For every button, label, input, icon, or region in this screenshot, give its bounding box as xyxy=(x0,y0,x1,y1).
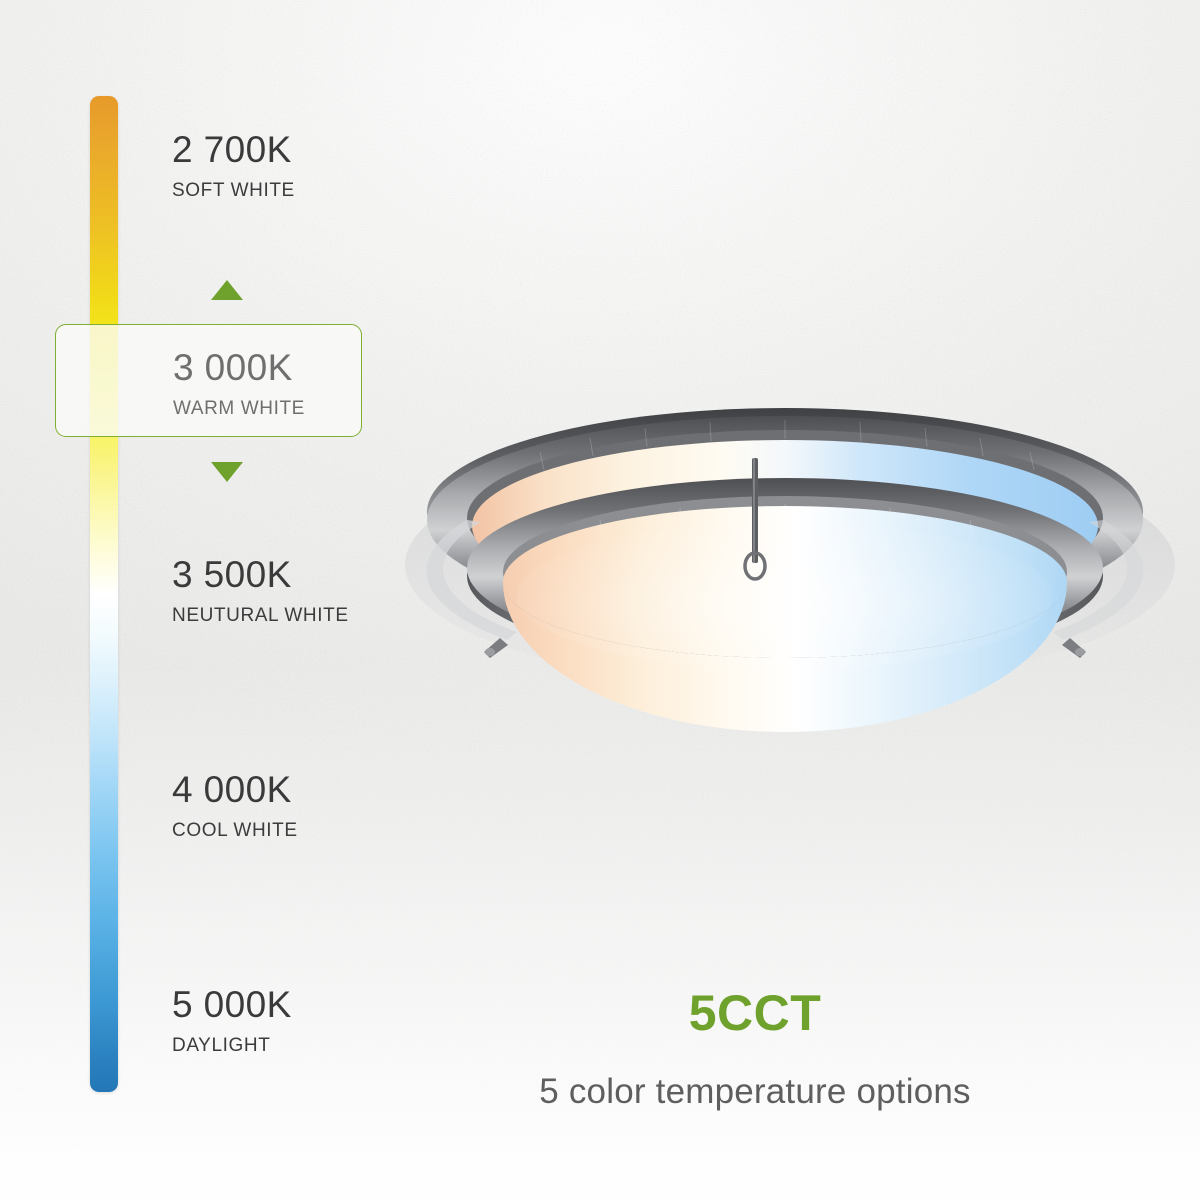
cct-temp-value: 4 000K xyxy=(172,771,298,808)
cct-step-2700k[interactable]: 2 700K SOFT WHITE xyxy=(172,131,295,200)
cct-step-3500k[interactable]: 3 500K NEUTURAL WHITE xyxy=(172,556,349,625)
cct-temp-name: SOFT WHITE xyxy=(172,181,295,200)
selected-cct-card[interactable]: 3 000K WARM WHITE xyxy=(55,324,362,437)
chevron-up-icon[interactable] xyxy=(211,280,243,300)
chevron-down-icon[interactable] xyxy=(211,462,243,482)
cct-temp-name: NEUTURAL WHITE xyxy=(172,606,349,625)
caption-headline: 5CCT xyxy=(310,988,1200,1038)
ceiling-light-fixture xyxy=(390,400,1180,750)
cct-temp-name: COOL WHITE xyxy=(172,821,298,840)
caption-block: 5CCT 5 color temperature options xyxy=(0,988,1200,1109)
infographic-canvas: 2 700K SOFT WHITE 3 000K WARM WHITE 3 50… xyxy=(0,0,1200,1200)
cct-step-4000k[interactable]: 4 000K COOL WHITE xyxy=(172,771,298,840)
cct-temp-value: 3 500K xyxy=(172,556,349,593)
cct-step-3000k[interactable]: 3 000K WARM WHITE xyxy=(173,349,305,418)
caption-subtitle: 5 color temperature options xyxy=(310,1074,1200,1109)
cct-temp-name: WARM WHITE xyxy=(173,399,305,418)
color-temperature-gradient-bar xyxy=(90,96,118,1092)
cct-temp-value: 2 700K xyxy=(172,131,295,168)
cct-temp-value: 3 000K xyxy=(173,349,305,386)
